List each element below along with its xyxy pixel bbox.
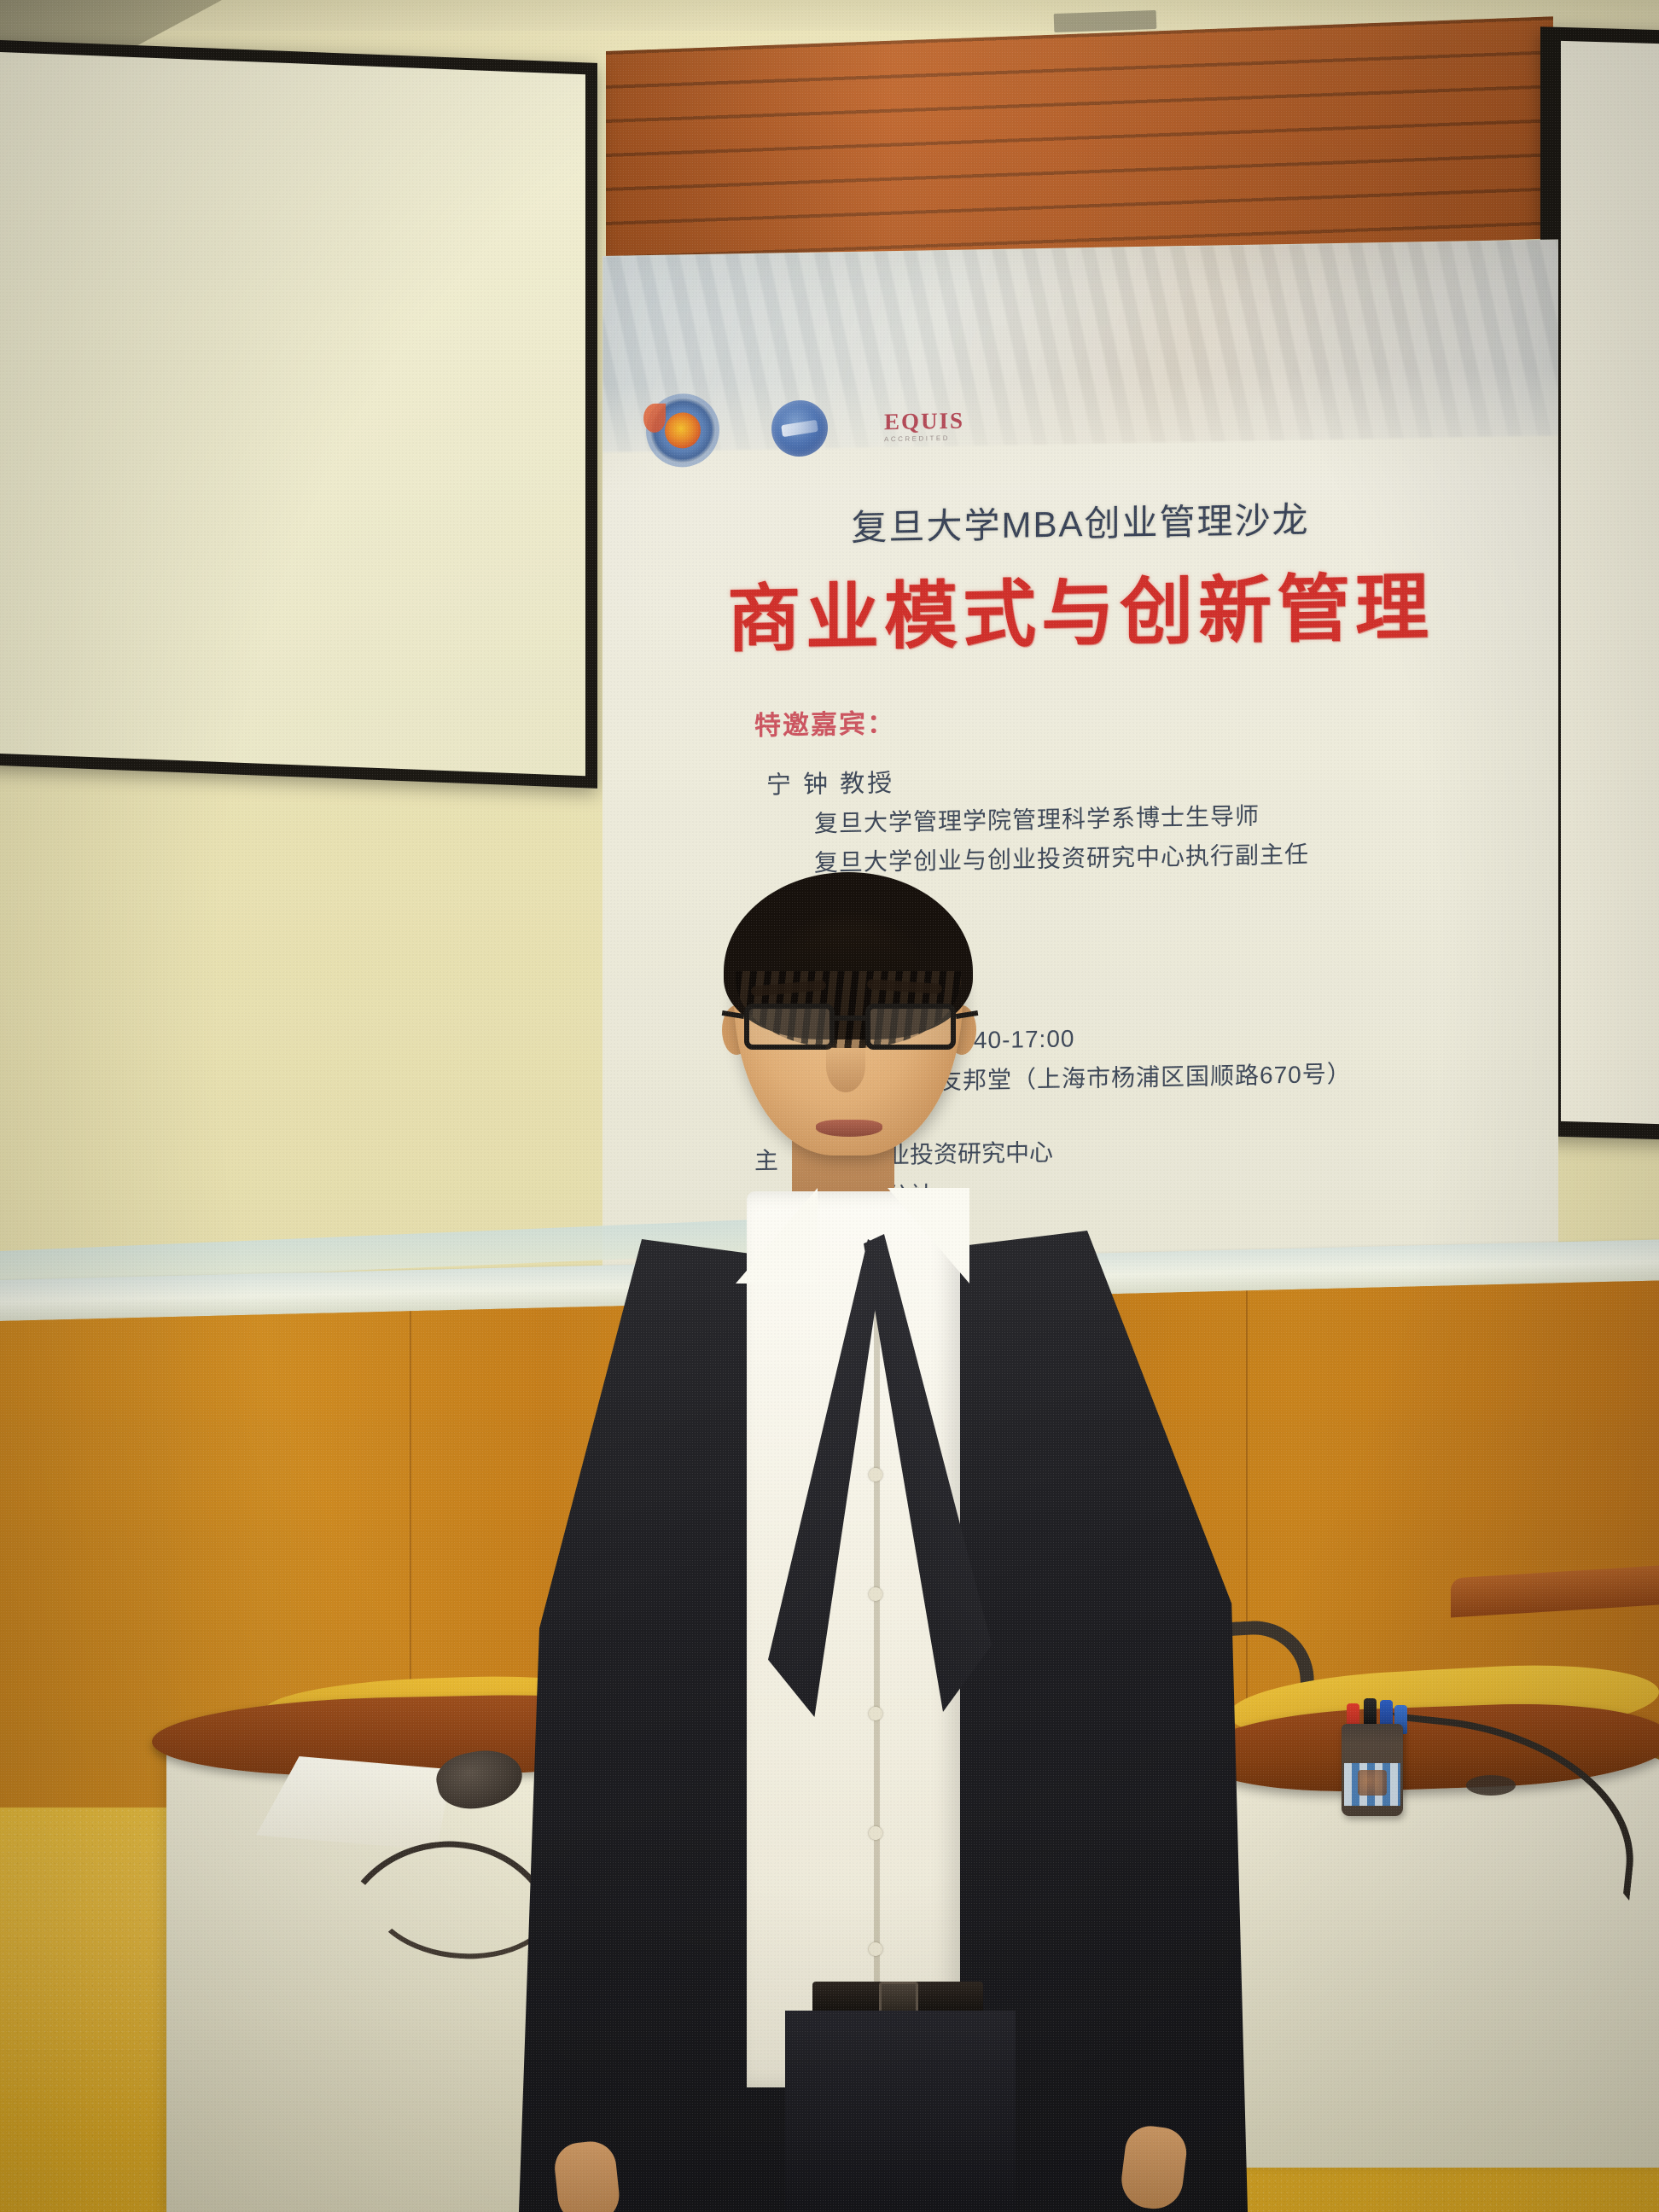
lens-left — [744, 1004, 835, 1050]
shirt-placket — [874, 1254, 880, 2014]
lens-right — [865, 1004, 956, 1050]
shirt-button — [869, 1468, 882, 1481]
shirt-button — [869, 1826, 882, 1840]
glasses-bridge — [835, 1016, 865, 1021]
conference-room-photo: EQUIS ACCREDITED 复旦大学MBA创业管理沙龙 商业模式与创新管理… — [0, 0, 1659, 2212]
presenter — [0, 0, 1659, 2212]
shirt-collar-left — [736, 1188, 818, 1284]
shirt-collar-right — [888, 1188, 969, 1284]
nose — [826, 1039, 865, 1092]
shirt-button — [869, 1587, 882, 1601]
trousers — [785, 2011, 1016, 2212]
shirt-button — [869, 1942, 882, 1956]
shirt-button — [869, 1707, 882, 1720]
mouth — [816, 1120, 882, 1137]
